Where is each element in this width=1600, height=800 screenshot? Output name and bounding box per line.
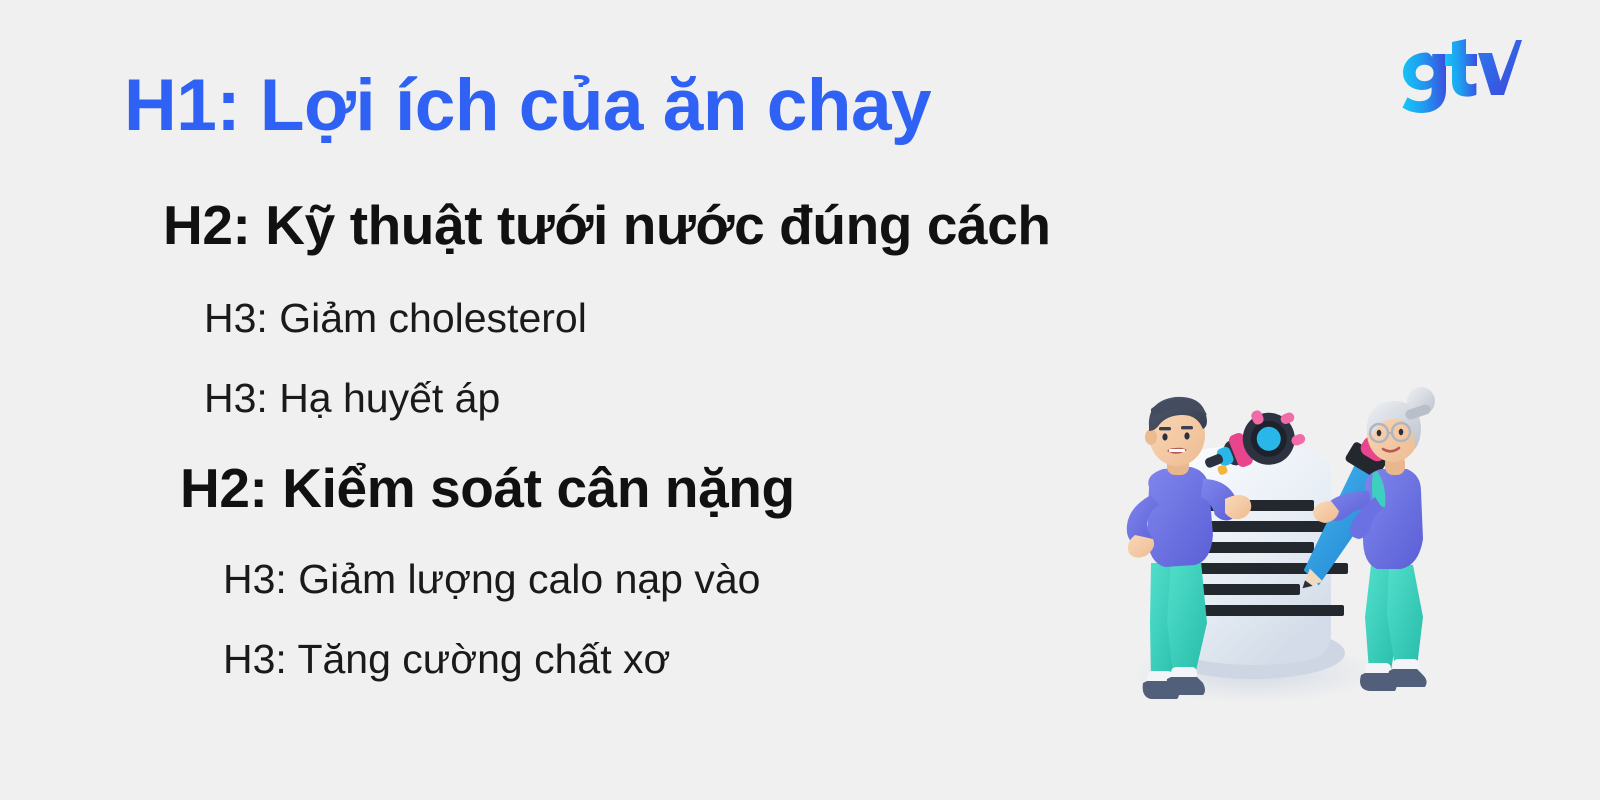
gtv-logo-icon bbox=[1392, 34, 1522, 114]
heading-h2-1: H2: Kỹ thuật tưới nước đúng cách bbox=[163, 197, 1051, 255]
gtv-logo[interactable] bbox=[1392, 34, 1522, 114]
heading-h2-2: H2: Kiểm soát cân nặng bbox=[180, 460, 795, 518]
illustration-two-people-document bbox=[1055, 375, 1465, 715]
logo-letter-t bbox=[1445, 39, 1477, 97]
heading-h3-1-2: H3: Hạ huyết áp bbox=[204, 377, 500, 420]
heading-h3-2-2: H3: Tăng cường chất xơ bbox=[223, 638, 670, 681]
logo-letter-v bbox=[1478, 40, 1522, 95]
heading-h3-2-1: H3: Giảm lượng calo nạp vào bbox=[223, 558, 760, 601]
document-collaboration-illustration-icon bbox=[1055, 375, 1465, 715]
heading-h3-1-1: H3: Giảm cholesterol bbox=[204, 297, 587, 340]
logo-letter-g bbox=[1403, 53, 1447, 114]
slide-canvas: H1: Lợi ích của ăn chay H2: Kỹ thuật tướ… bbox=[0, 0, 1600, 800]
heading-h1: H1: Lợi ích của ăn chay bbox=[124, 68, 931, 145]
